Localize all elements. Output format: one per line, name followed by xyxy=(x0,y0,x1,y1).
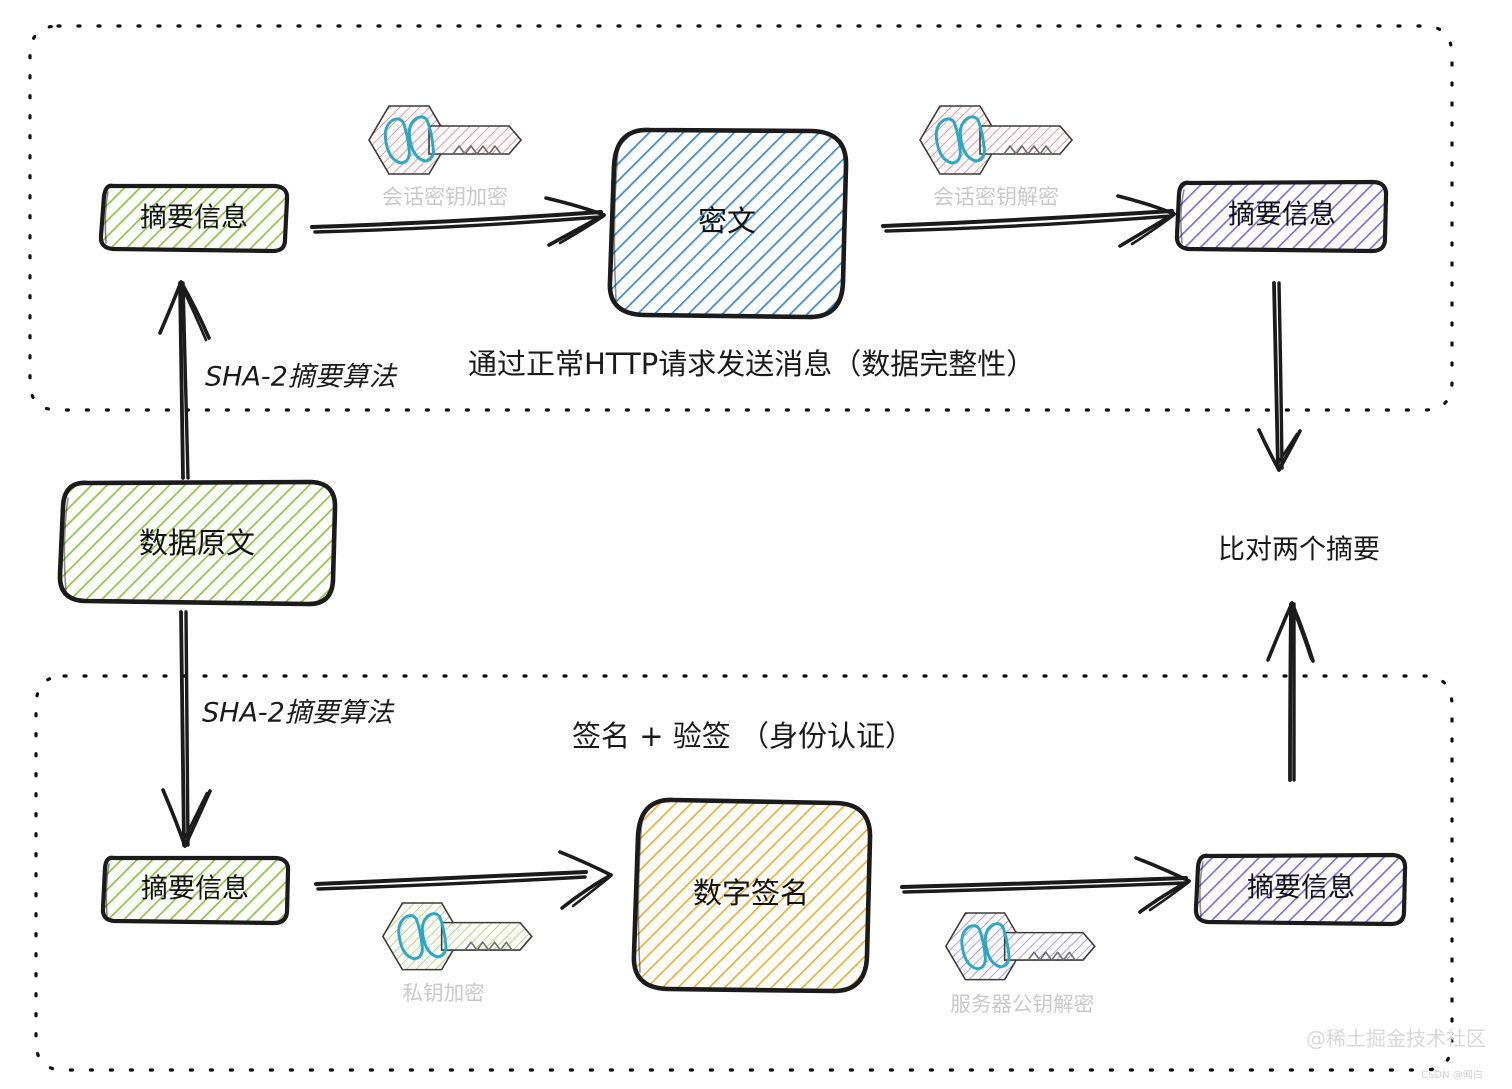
node-label-digest-top-right: 摘要信息 xyxy=(1228,200,1336,231)
label-sign-verify: 签名 + 验签 （身份认证） xyxy=(572,719,914,753)
arrow-plaintext-to-digest-top xyxy=(160,282,209,478)
node-label-signature: 数字签名 xyxy=(693,876,809,910)
arrow-digest-bottom-to-compare xyxy=(1268,603,1313,780)
node-plaintext[interactable]: 数据原文 xyxy=(60,482,335,604)
arrow-digest-to-signature xyxy=(316,852,611,908)
key-session-decrypt-icon: 会话密钥解密 xyxy=(920,106,1072,209)
node-label-plaintext: 数据原文 xyxy=(139,526,255,560)
watermark-text: @稀土掘金技术社区 xyxy=(1306,1027,1486,1051)
node-label-digest-bottom-left: 摘要信息 xyxy=(141,874,249,905)
node-label-digest-top-left: 摘要信息 xyxy=(140,203,248,234)
diagram-svg: 摘要信息 密文 摘要信息 数据原文 摘要信息 xyxy=(0,0,1512,1089)
key-session-encrypt-icon: 会话密钥加密 xyxy=(369,106,521,209)
node-digest-top-left[interactable]: 摘要信息 xyxy=(101,186,287,251)
node-label-digest-bottom-right: 摘要信息 xyxy=(1247,873,1355,904)
node-digest-bottom-right[interactable]: 摘要信息 xyxy=(1196,855,1405,924)
node-signature[interactable]: 数字签名 xyxy=(634,800,870,991)
key-private-encrypt-caption: 私钥加密 xyxy=(402,981,484,1005)
label-sha2-bottom: SHA-2摘要算法 xyxy=(202,698,395,729)
key-session-encrypt-caption: 会话密钥加密 xyxy=(382,185,508,209)
arrow-digest-top-to-compare xyxy=(1259,283,1300,470)
node-ciphertext[interactable]: 密文 xyxy=(610,130,846,317)
key-server-public-decrypt-caption: 服务器公钥解密 xyxy=(950,992,1094,1016)
node-digest-top-right[interactable]: 摘要信息 xyxy=(1177,182,1386,251)
arrow-signature-to-digest xyxy=(902,858,1189,912)
label-http-send: 通过正常HTTP请求发送消息（数据完整性） xyxy=(468,347,1035,381)
node-digest-bottom-left[interactable]: 摘要信息 xyxy=(103,858,288,923)
label-compare: 比对两个摘要 xyxy=(1218,535,1380,566)
key-private-encrypt-icon: 私钥加密 xyxy=(383,903,532,1005)
watermark-small-text: CSDN @闻白 xyxy=(1421,1068,1483,1081)
label-sha2-top: SHA-2摘要算法 xyxy=(205,362,398,393)
arrow-plaintext-to-digest-bottom xyxy=(163,612,210,846)
key-server-public-decrypt-icon: 服务器公钥解密 xyxy=(946,913,1095,1016)
key-session-decrypt-caption: 会话密钥解密 xyxy=(933,185,1059,209)
diagram-canvas: 摘要信息 密文 摘要信息 数据原文 摘要信息 xyxy=(0,0,1512,1089)
node-label-ciphertext: 密文 xyxy=(698,204,756,238)
